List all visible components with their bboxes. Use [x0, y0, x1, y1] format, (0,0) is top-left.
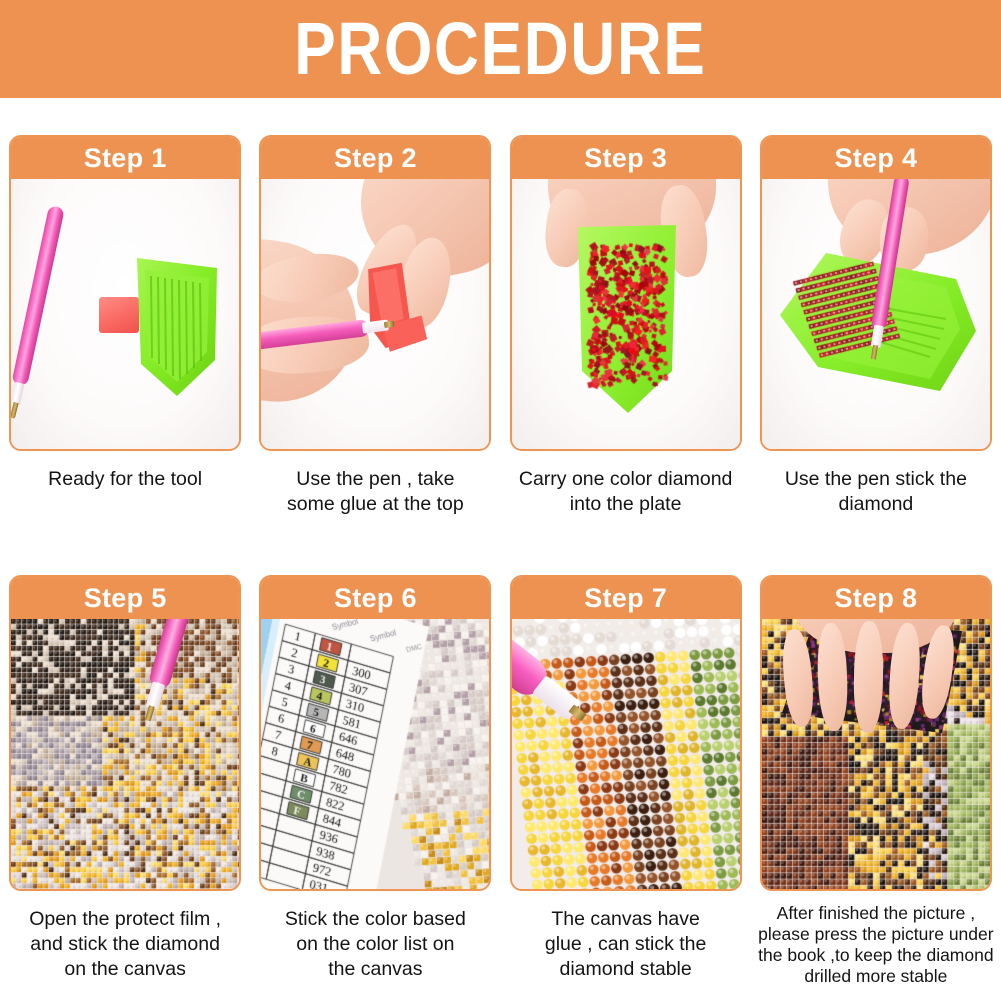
step-5-header-label: Step 5: [84, 585, 167, 612]
step-1-caption: Ready for the tool: [7, 467, 243, 492]
caption-line: glue , can stick the: [508, 932, 744, 957]
step-5-header: Step 5: [11, 577, 239, 619]
page-title: PROCEDURE: [294, 12, 706, 86]
caption-line: Use the pen , take: [257, 467, 493, 492]
steps-row-top: Step 1: [0, 135, 1001, 517]
caption-line: Use the pen stick the: [758, 467, 994, 492]
step-2-caption: Use the pen , take some glue at the top: [257, 467, 493, 517]
step-2-card[interactable]: Step 2: [259, 135, 491, 451]
caption-line: diamond: [758, 492, 994, 517]
steps-row-bottom: Step 5 Open the protect film , and st: [0, 575, 1001, 987]
caption-line: the canvas: [257, 957, 493, 982]
step-5-image: [11, 619, 239, 889]
caption-line: on the color list on: [257, 932, 493, 957]
step-3-image: [512, 179, 740, 449]
procedure-infographic: PROCEDURE Step 1: [0, 0, 1001, 1001]
step-2-header-label: Step 2: [334, 145, 417, 172]
caption-line: diamond stable: [508, 957, 744, 982]
step-3-card[interactable]: Step 3: [510, 135, 742, 451]
step-6-caption: Stick the color based on the color list …: [257, 907, 493, 982]
step-7-image: [512, 619, 740, 889]
step-4-header-label: Step 4: [834, 145, 917, 172]
caption-line: on the canvas: [7, 957, 243, 982]
caption-line: the book ,to keep the diamond: [754, 945, 998, 966]
step-7-caption: The canvas have glue , can stick the dia…: [508, 907, 744, 982]
caption-line: Carry one color diamond: [508, 467, 744, 492]
step-6-header: Step 6: [261, 577, 489, 619]
step-7-header: Step 7: [512, 577, 740, 619]
green-tray-icon: [131, 254, 223, 404]
step-card-3: Step 3: [501, 135, 751, 517]
step-1-image: [11, 179, 239, 449]
step-card-8: Step 8: [751, 575, 1001, 987]
step-1-card[interactable]: Step 1: [9, 135, 241, 451]
step-6-card[interactable]: Step 6: [259, 575, 491, 891]
step-7-card[interactable]: Step 7: [510, 575, 742, 891]
caption-line: Stick the color based: [257, 907, 493, 932]
step-1-header: Step 1: [11, 137, 239, 179]
caption-line: please press the picture under: [754, 924, 998, 945]
step-4-caption: Use the pen stick the diamond: [758, 467, 994, 517]
red-wax-icon: [362, 261, 438, 358]
caption-line: some glue at the top: [257, 492, 493, 517]
page-header-banner: PROCEDURE: [0, 0, 1001, 98]
step-card-4: Step 4: [751, 135, 1001, 517]
step-4-card[interactable]: Step 4: [760, 135, 992, 451]
step-8-header: Step 8: [762, 577, 990, 619]
caption-line: and stick the diamond: [7, 932, 243, 957]
step-2-header: Step 2: [261, 137, 489, 179]
step-3-header: Step 3: [512, 137, 740, 179]
step-8-caption: After finished the picture , please pres…: [754, 903, 998, 987]
step-card-7: Step 7 The canvas have glue , can sti: [501, 575, 751, 987]
caption-line: drilled more stable: [754, 966, 998, 987]
step-7-header-label: Step 7: [584, 585, 667, 612]
step-5-caption: Open the protect film , and stick the di…: [7, 907, 243, 982]
step-1-header-label: Step 1: [84, 145, 167, 172]
caption-line: into the plate: [508, 492, 744, 517]
step-card-1: Step 1: [0, 135, 250, 517]
step-8-image: [762, 619, 990, 889]
step-4-image: [762, 179, 990, 449]
step-3-caption: Carry one color diamond into the plate: [508, 467, 744, 517]
step-8-header-label: Step 8: [834, 585, 917, 612]
caption-line: Ready for the tool: [7, 467, 243, 492]
step-4-header: Step 4: [762, 137, 990, 179]
step-2-image: [261, 179, 489, 449]
step-card-5: Step 5 Open the protect film , and st: [0, 575, 250, 987]
step-6-header-label: Step 6: [334, 585, 417, 612]
color-chart-icon: [261, 619, 489, 889]
step-8-card[interactable]: Step 8: [760, 575, 992, 891]
step-card-2: Step 2: [250, 135, 500, 517]
caption-line: After finished the picture ,: [754, 903, 998, 924]
step-6-image: [261, 619, 489, 889]
caption-line: The canvas have: [508, 907, 744, 932]
step-card-6: Step 6 Stick the color based on the colo…: [250, 575, 500, 987]
caption-line: Open the protect film ,: [7, 907, 243, 932]
step-3-header-label: Step 3: [584, 145, 667, 172]
round-beads-icon: [512, 619, 740, 889]
red-diamonds-icon: [512, 179, 740, 449]
sunflower-mosaic-icon: [11, 619, 239, 889]
step-5-card[interactable]: Step 5: [9, 575, 241, 891]
